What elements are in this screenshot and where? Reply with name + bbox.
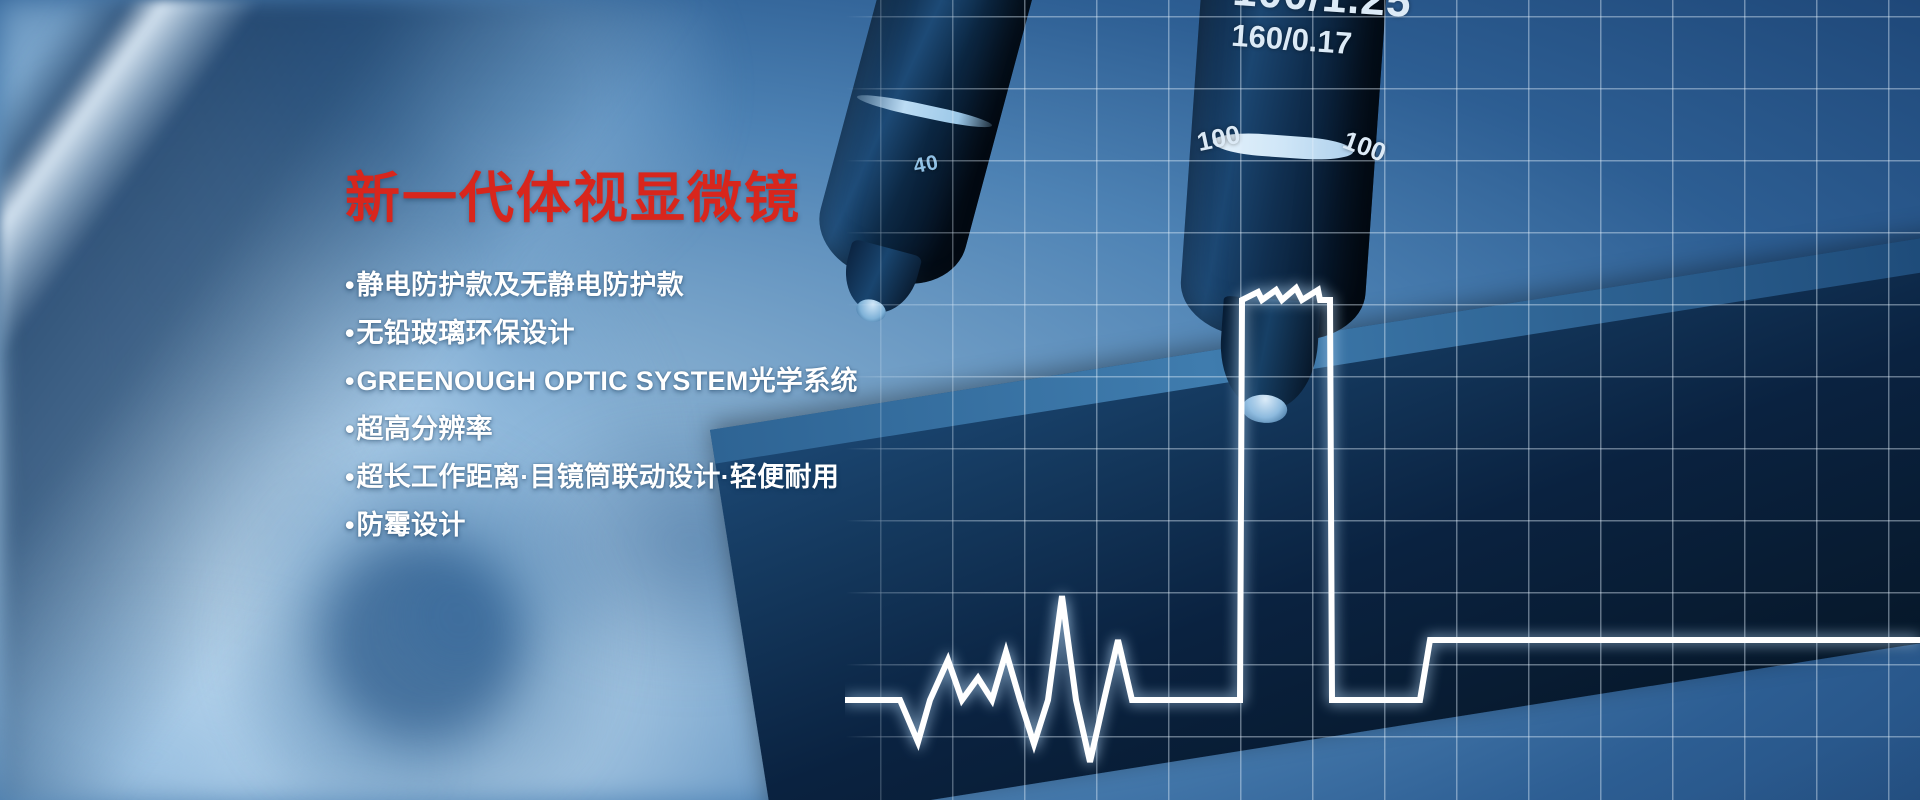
- page-title: 新一代体视显微镜: [345, 170, 925, 228]
- waveform-trace: [845, 288, 1920, 762]
- feature-list-item: •静电防护款及无静电防护款: [345, 272, 925, 299]
- bullet-marker-icon: •: [345, 512, 354, 539]
- hero-banner: GUARD POLER 40 100/1.25 160/0.17 100 100: [0, 0, 1920, 800]
- bullet-marker-icon: •: [345, 272, 354, 299]
- feature-list-item: •无铅玻璃环保设计: [345, 320, 925, 347]
- feature-list: •静电防护款及无静电防护款•无铅玻璃环保设计•GREENOUGH OPTIC S…: [345, 272, 925, 539]
- feature-list-item: •超高分辨率: [345, 416, 925, 443]
- bullet-marker-icon: •: [345, 320, 354, 347]
- feature-list-item-label: 防霉设计: [356, 512, 465, 539]
- feature-list-item-label: 无铅玻璃环保设计: [356, 320, 574, 347]
- feature-list-item-label: 超高分辨率: [356, 416, 493, 443]
- feature-list-item-label: 超长工作距离·目镜筒联动设计·轻便耐用: [356, 464, 839, 491]
- feature-list-item: •GREENOUGH OPTIC SYSTEM光学系统: [345, 368, 925, 395]
- feature-list-item-label: GREENOUGH OPTIC SYSTEM光学系统: [356, 368, 857, 395]
- bullet-marker-icon: •: [345, 368, 354, 395]
- bullet-marker-icon: •: [345, 416, 354, 443]
- bullet-marker-icon: •: [345, 464, 354, 491]
- feature-list-item: •防霉设计: [345, 512, 925, 539]
- waveform-svg: [845, 0, 1920, 800]
- waveform-graphic: [845, 0, 1920, 800]
- feature-list-item: •超长工作距离·目镜筒联动设计·轻便耐用: [345, 464, 925, 491]
- feature-list-item-label: 静电防护款及无静电防护款: [356, 272, 684, 299]
- hero-text-block: 新一代体视显微镜 •静电防护款及无静电防护款•无铅玻璃环保设计•GREENOUG…: [345, 170, 925, 560]
